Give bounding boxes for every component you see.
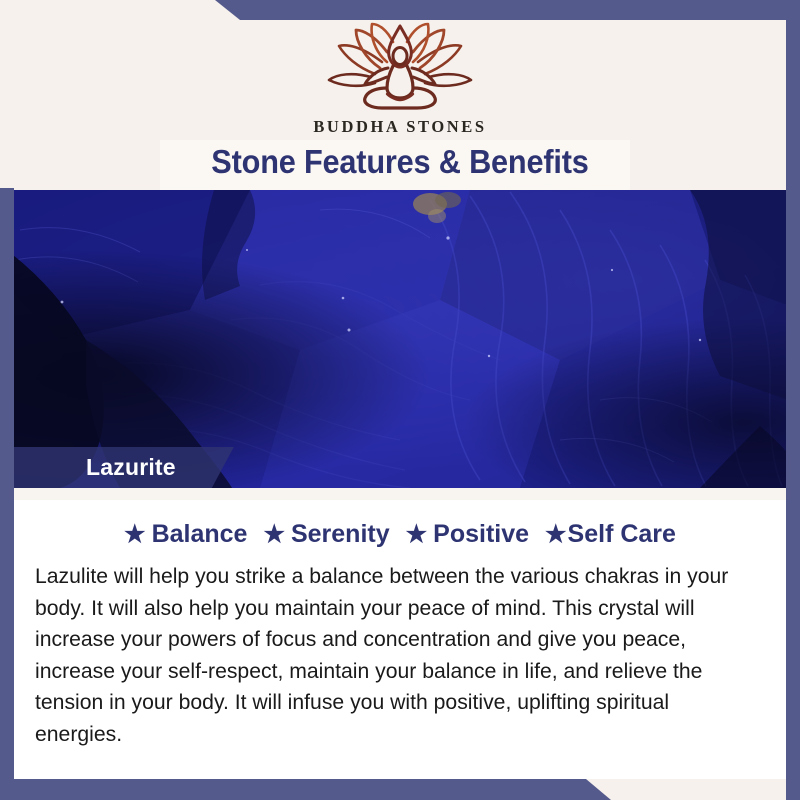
benefit-label: Serenity: [291, 520, 390, 549]
lotus-meditation-icon: [325, 22, 475, 110]
panel-top-strip: [14, 488, 786, 500]
stone-photo-artwork: [0, 190, 800, 488]
benefit-label: Balance: [152, 520, 248, 549]
frame-accent-left: [0, 188, 14, 800]
stone-benefits-poster: BUDDHA STONES Stone Features & Benefits …: [0, 0, 800, 800]
benefit-item-positive: ★ Positive: [406, 520, 529, 549]
star-icon: ★: [406, 523, 428, 547]
stone-name-text: Lazurite: [86, 454, 176, 481]
page-title: Stone Features & Benefits: [28, 143, 772, 181]
brand-logo: BUDDHA STONES: [0, 22, 800, 137]
frame-accent-bottom: [0, 779, 800, 800]
star-icon: ★: [124, 523, 146, 547]
stone-photo: [0, 190, 800, 488]
frame-accent-right: [786, 0, 800, 800]
stone-name-badge: Lazurite: [14, 447, 234, 488]
brand-name: BUDDHA STONES: [313, 117, 486, 137]
benefit-label: Self Care: [568, 520, 676, 549]
stone-description: Lazulite will help you strike a balance …: [35, 561, 760, 750]
content-panel: ★ Balance ★ Serenity ★ Positive ★ Self C…: [14, 488, 786, 779]
benefit-item-serenity: ★ Serenity: [263, 520, 389, 549]
benefit-label: Positive: [433, 520, 529, 549]
benefits-row: ★ Balance ★ Serenity ★ Positive ★ Self C…: [14, 520, 786, 549]
benefit-item-self-care: ★ Self Care: [545, 520, 676, 549]
benefit-item-balance: ★ Balance: [124, 520, 247, 549]
star-icon: ★: [545, 523, 567, 547]
star-icon: ★: [263, 523, 285, 547]
